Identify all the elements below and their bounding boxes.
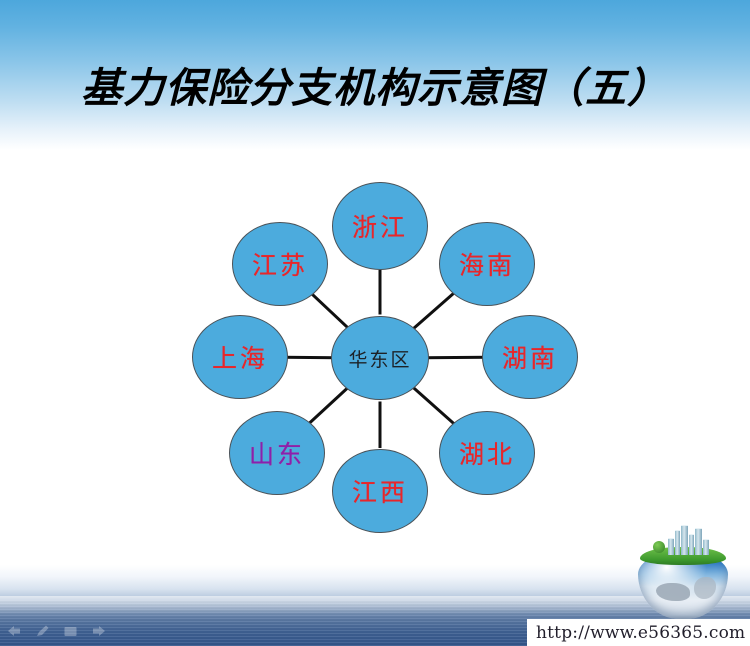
diagram-node-label: 华东区: [348, 345, 411, 372]
presentation-controls[interactable]: [6, 621, 118, 641]
diagram-node-jiangsu[interactable]: 江苏: [232, 222, 328, 306]
diagram-node-label: 江苏: [252, 246, 308, 282]
diagram-node-hunan[interactable]: 湖南: [482, 315, 578, 399]
pen-icon[interactable]: [34, 624, 51, 639]
globe-landmass: [656, 583, 690, 601]
url-text[interactable]: http://www.e56365.com: [536, 623, 745, 643]
diagram-node-hainan[interactable]: 海南: [439, 222, 535, 306]
diagram-node-label: 海南: [459, 246, 515, 282]
diagram-node-jiangxi[interactable]: 江西: [332, 449, 428, 533]
globe-skyline: [668, 525, 712, 555]
globe-tree-icon: [653, 541, 665, 553]
diagram-node-zhejiang[interactable]: 浙江: [332, 182, 428, 270]
diagram-node-label: 湖北: [459, 435, 515, 471]
slide-menu-icon[interactable]: [62, 624, 79, 639]
presentation-slide: 基力保险分支机构示意图（五） 浙江海南湖南湖北江西山东上海江苏华东区 http:…: [0, 0, 750, 646]
globe-landmass-secondary: [694, 577, 716, 599]
url-watermark-bar: http://www.e56365.com: [527, 619, 750, 646]
diagram-node-shanghai[interactable]: 上海: [192, 315, 288, 399]
forward-arrow-icon[interactable]: [90, 624, 107, 639]
diagram-node-hubei[interactable]: 湖北: [439, 411, 535, 495]
back-arrow-icon[interactable]: [6, 624, 23, 639]
earth-city-globe-icon: [630, 525, 736, 621]
diagram-node-huadongqu[interactable]: 华东区: [331, 316, 429, 400]
diagram-node-label: 江西: [352, 473, 408, 509]
diagram-node-shandong[interactable]: 山东: [229, 411, 325, 495]
diagram-node-label: 浙江: [352, 208, 408, 244]
diagram-node-label: 上海: [212, 339, 268, 375]
diagram-node-label: 湖南: [502, 339, 558, 375]
diagram-node-label: 山东: [249, 435, 305, 471]
